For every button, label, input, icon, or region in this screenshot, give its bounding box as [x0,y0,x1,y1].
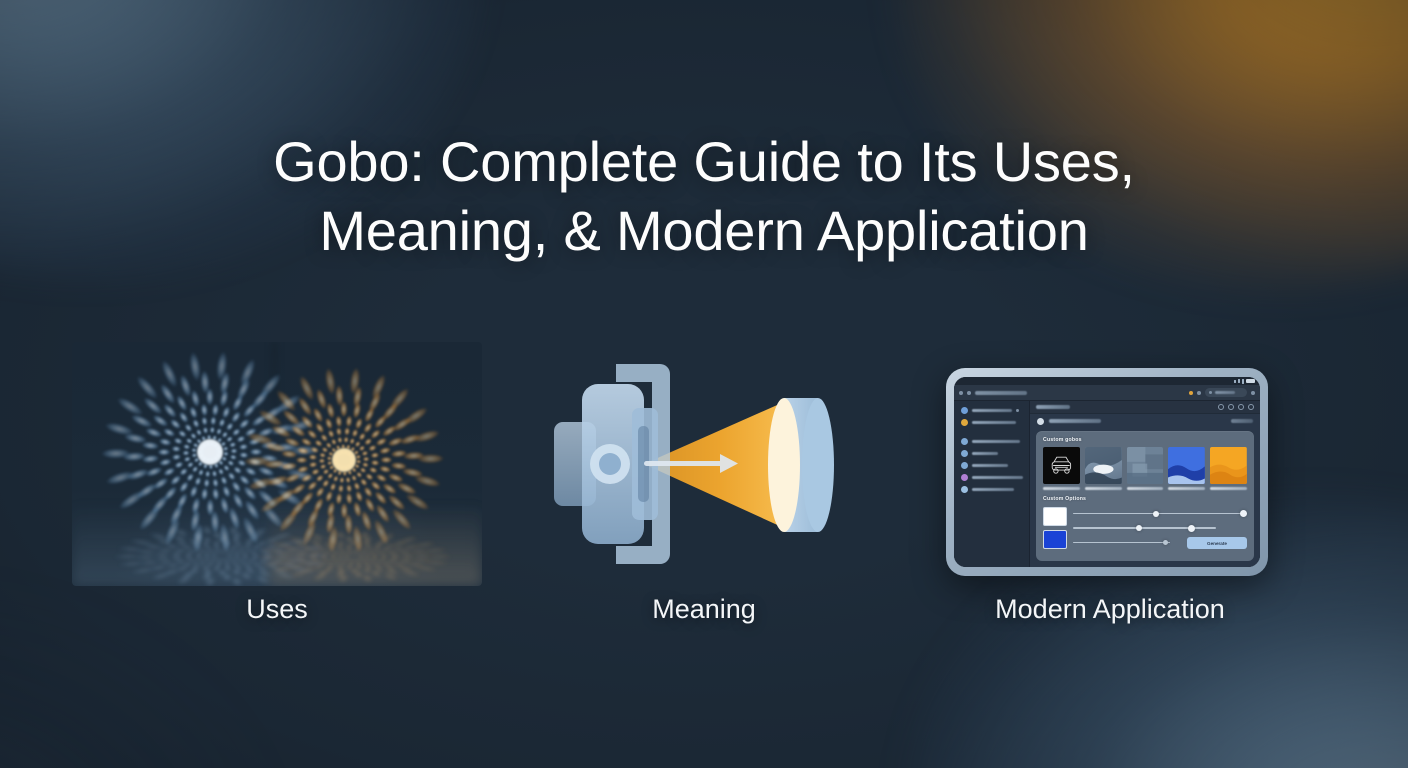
tablet-device: Custom gobos [946,368,1268,576]
sidebar-item-label [972,464,1008,468]
panel-caption-meaning: Meaning [652,594,756,625]
sidebar-item-dashboard[interactable] [961,407,1023,414]
sidebar-item-label [972,488,1014,492]
warning-icon[interactable] [1189,391,1193,395]
sidebar-item-label [972,476,1023,480]
thumbnail-caption [1168,487,1205,490]
grid-icon [961,407,968,414]
sparkle-icon [1037,418,1044,425]
slider-track [1073,513,1247,514]
sidebar-item-account-settings[interactable] [961,486,1023,493]
color-swatch-white[interactable] [1043,507,1067,526]
info-icon[interactable] [1238,404,1244,410]
generate-button[interactable]: Generate [1187,537,1247,549]
back-arrow-icon[interactable] [959,391,963,395]
floor-light-wash-warm [269,502,482,586]
custom-options-row: Generate [1043,507,1247,549]
custom-options-heading: Custom Options [1043,496,1247,502]
app-sidebar [954,401,1030,567]
custom-gobos-heading: Custom gobos [1043,437,1247,443]
tablet-screen: Custom gobos [954,377,1260,567]
sidebar-item-label [972,409,1012,413]
sidebar-item-label [972,440,1020,444]
thumbnail-caption [1085,487,1122,490]
slider-size[interactable] [1073,524,1247,533]
section-action-link[interactable] [1231,419,1253,423]
panel-caption-modern-application: Modern Application [995,594,1225,625]
search-icon [1209,391,1212,394]
thumbnail-caption [1127,487,1164,490]
fixture-lens-ring-inner [599,453,621,475]
slider-track [1073,542,1170,543]
title-line-1: Gobo: Complete Guide to Its Uses, [273,130,1135,193]
pattern-icon [961,450,968,457]
panel-modern-application: Custom gobos [928,336,1292,666]
thumbnail-caption [1210,487,1247,490]
signal-icon [1238,379,1240,383]
thumbnail-image-flame [1210,447,1247,484]
search-pill[interactable] [1205,388,1247,397]
menu-icon[interactable] [1197,391,1201,395]
sidebar-item-projections[interactable] [961,462,1023,469]
hero-stage: Gobo: Complete Guide to Its Uses, Meanin… [0,0,1408,768]
profile-icon[interactable] [1251,391,1255,395]
gobo-thumbnail-row [1043,447,1247,490]
forward-arrow-icon[interactable] [967,391,971,395]
gobo-projection-illustration [72,342,482,586]
signal-icon [1242,379,1244,384]
undo-icon[interactable] [1218,404,1224,410]
projection-icon [961,462,968,469]
app-section-title-row [1030,414,1260,428]
sidebar-item-label [972,421,1016,425]
folder-icon [961,419,968,426]
app-content-card: Custom gobos [1036,431,1254,561]
page-title: Gobo: Complete Guide to Its Uses, Meanin… [0,128,1408,266]
cylindrical-lens [768,398,834,532]
more-icon[interactable] [1248,404,1254,410]
app-toolbar [1030,401,1260,414]
illustration-panels: Uses [0,336,1408,666]
slider-knob[interactable] [1163,540,1168,545]
sidebar-item-my-projects[interactable] [961,419,1023,426]
slider-knob[interactable] [1188,525,1195,532]
slider-group: Generate [1073,507,1247,549]
color-swatch-blue[interactable] [1043,530,1067,549]
panel-uses: Uses [72,336,482,666]
chevron-left-icon[interactable] [1016,409,1019,412]
address-bar[interactable] [975,391,1027,395]
battery-icon [1246,379,1255,383]
thumbnail-image-template [1085,447,1122,484]
gobo-thumbnail[interactable] [1210,447,1247,490]
browser-toolbar[interactable] [954,385,1260,401]
breadcrumb[interactable] [1036,405,1070,409]
effects-icon [961,474,968,481]
title-line-2: Meaning, & Modern Application [120,197,1288,266]
thumbnail-image-breakup [1127,447,1164,484]
thumbnail-image-line-pattern [1043,447,1080,484]
search-placeholder [1215,391,1235,394]
gobo-thumbnail[interactable] [1127,447,1164,490]
projector-beam-illustration [548,346,860,582]
thumbnail-image-haze [1168,447,1205,484]
section-title [1049,419,1101,423]
gear-icon [961,486,968,493]
sidebar-item-gobo-library[interactable] [961,438,1023,445]
sidebar-item-beam-effects[interactable] [961,474,1023,481]
signal-icon [1234,380,1236,383]
slider-intensity[interactable] [1073,509,1247,518]
library-icon [961,438,968,445]
gobo-thumbnail[interactable] [1043,447,1080,490]
panel-meaning: Meaning [520,336,888,666]
slider-knob[interactable] [1240,510,1247,517]
tablet-status-bar [954,377,1260,385]
thumbnail-caption [1043,487,1080,490]
gobo-thumbnail[interactable] [1085,447,1122,490]
tablet-app-body: Custom gobos [954,401,1260,567]
slider-knob[interactable] [1153,511,1159,517]
layers-icon[interactable] [1228,404,1234,410]
app-main-area: Custom gobos [1030,401,1260,567]
color-swatch-group [1043,507,1067,549]
slider-knob[interactable] [1136,525,1142,531]
generate-button-label: Generate [1207,541,1227,546]
sidebar-item-label [972,452,998,456]
sidebar-item-patterns[interactable] [961,450,1023,457]
panel-caption-uses: Uses [246,594,308,625]
gobo-thumbnail[interactable] [1168,447,1205,490]
